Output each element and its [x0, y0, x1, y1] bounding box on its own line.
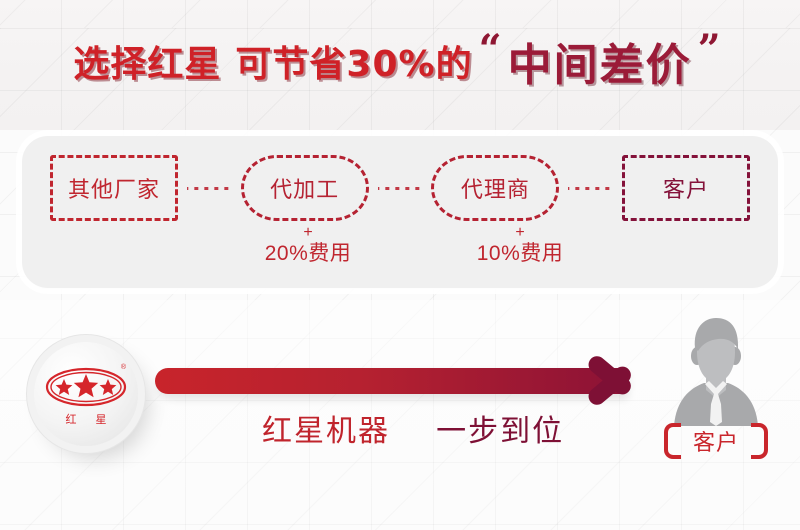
fee-plus-sign: +	[228, 224, 388, 242]
businessman-avatar-icon	[664, 318, 768, 426]
chain-connector-dotted-1	[187, 187, 232, 190]
arrow-shaft	[155, 368, 625, 394]
fee-plus-sign: +	[440, 224, 600, 242]
slogan-brand: 红星机器	[262, 414, 390, 449]
headline-emphasis: 中间差价	[508, 29, 692, 93]
supply-chain-row: 其他厂家 代加工 代理商 客户	[22, 152, 778, 224]
slogan-tagline: 一步到位	[436, 414, 564, 449]
chain-fee-agent: + 10%费用	[440, 224, 600, 267]
fee-amount: 20%费用	[228, 242, 388, 266]
promo-poster: 选择红星 可节省30%的 “ 中间差价 ” 其他厂家 代加工 代理商 客户	[0, 0, 800, 530]
headline: 选择红星 可节省30%的 “ 中间差价 ”	[0, 28, 800, 94]
fee-amount: 10%费用	[440, 242, 600, 266]
registered-trademark-icon: ®	[121, 364, 126, 371]
chain-fee-oem: + 20%费用	[228, 224, 388, 267]
chain-node-label: 其他厂家	[68, 172, 160, 204]
chain-node-other-factory: 其他厂家	[50, 155, 178, 221]
headline-lead: 选择红星	[73, 35, 221, 87]
logo-wordmark: 红 星	[45, 411, 127, 427]
chain-node-customer: 客户	[622, 155, 750, 221]
supply-chain-panel: 其他厂家 代加工 代理商 客户 + 20%费用 + 10%费用	[22, 136, 778, 288]
chain-node-label: 客户	[663, 172, 709, 204]
bracket-left-icon	[664, 423, 681, 459]
chain-node-label: 代理商	[461, 172, 530, 204]
customer-label-group: 客户	[638, 424, 794, 458]
logo-char-left: 红	[66, 411, 77, 427]
chain-node-oem: 代加工	[241, 155, 369, 221]
hongxing-logo-badge: ® 红 星	[34, 342, 138, 446]
logo-char-right: 星	[96, 411, 107, 427]
chain-node-label: 代加工	[270, 172, 339, 204]
customer-label: 客户	[693, 425, 739, 457]
quote-close-mark: ”	[692, 26, 727, 73]
logo-inner: ® 红 星	[45, 363, 127, 425]
arrow-head	[587, 350, 649, 412]
quote-open-mark: “	[473, 26, 508, 73]
promo-slogan: 红星机器 一步到位	[262, 406, 564, 450]
chain-connector-dotted-3	[568, 187, 613, 190]
chain-connector-dotted-2	[378, 187, 423, 190]
bracket-right-icon	[751, 423, 768, 459]
three-stars-ellipse-icon	[45, 363, 127, 411]
chain-node-agent: 代理商	[431, 155, 559, 221]
headline-middle: 可节省30%的	[235, 35, 472, 87]
